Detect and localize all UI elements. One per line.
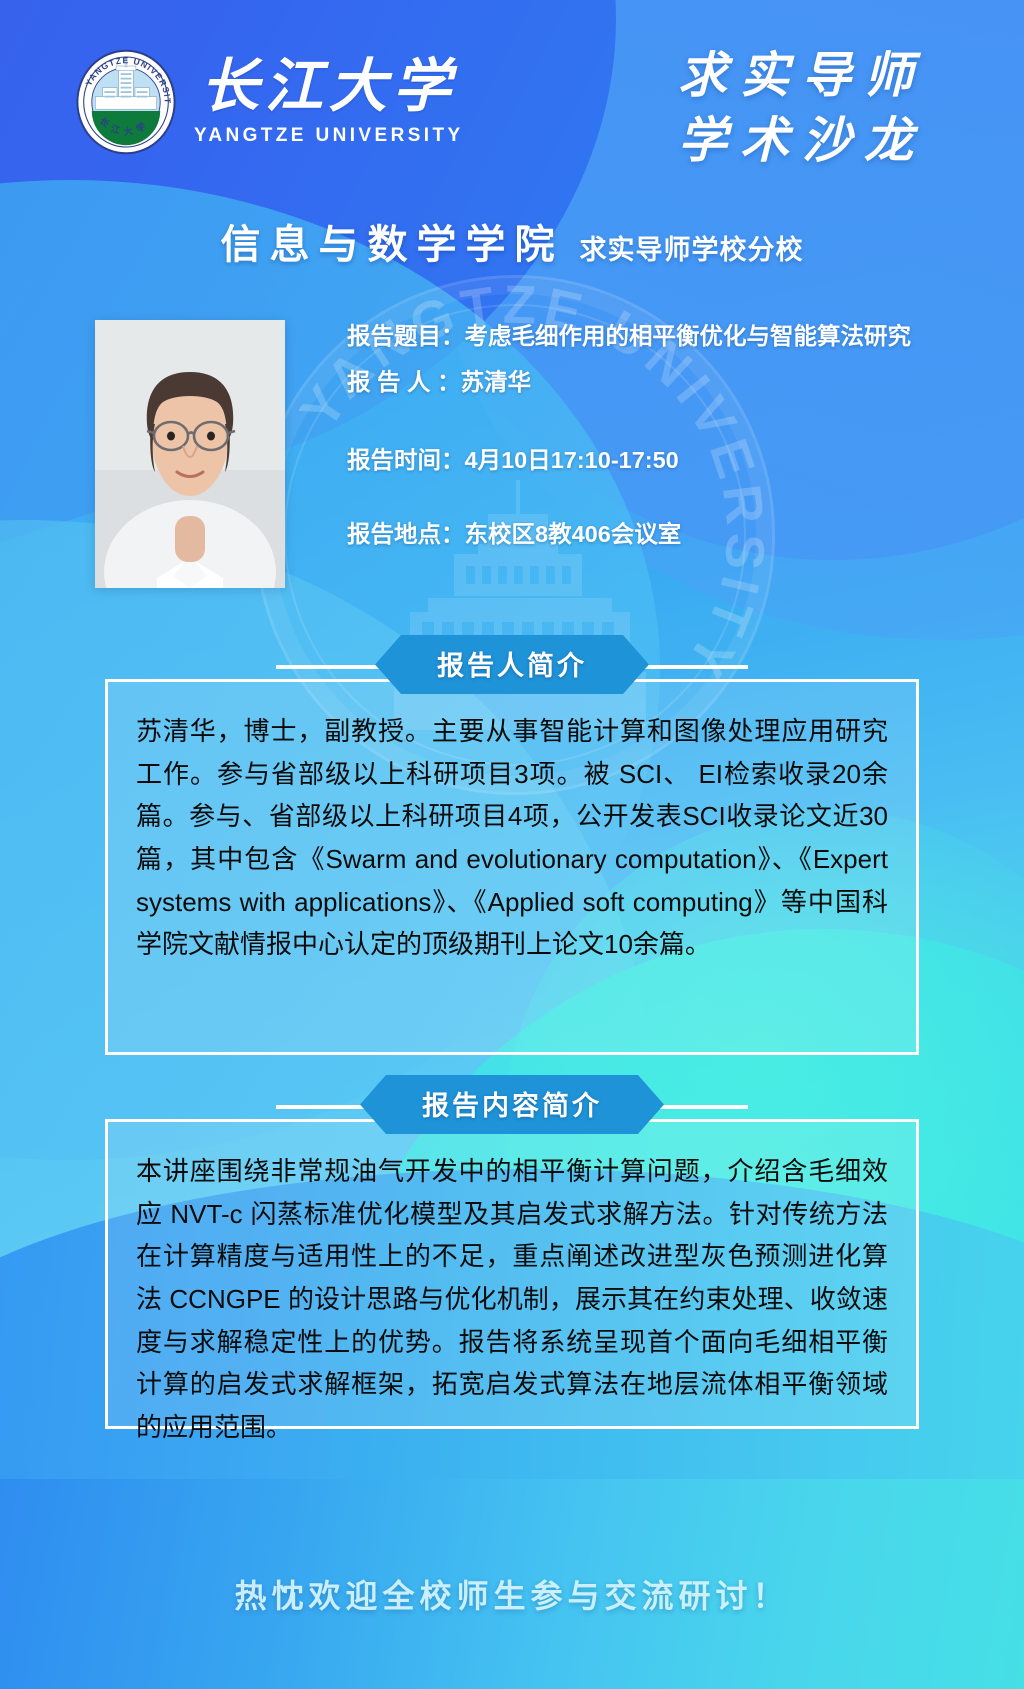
department-name: 信息与数学学院 (221, 212, 564, 270)
report-title-label: 报告题目： (347, 323, 465, 349)
content-text: 本讲座围绕非常规油气开发中的相平衡计算问题，介绍含毛细效应 NVT-c 闪蒸标准… (136, 1150, 888, 1448)
university-logo: YANGTZE UNIVERSITY 长江大学 长江大学 YANGTZE UNI… (72, 48, 464, 156)
poster-root: YANGTZE UNIVERSITY (0, 0, 1024, 1689)
report-place-row: 报告地点： 东校区8教406会议室 (347, 515, 917, 549)
footer-note: 热忱欢迎全校师生参与交流研讨！ (0, 1571, 1024, 1617)
university-seal-icon: YANGTZE UNIVERSITY 长江大学 (72, 48, 180, 156)
speaker-portrait-icon (95, 320, 285, 588)
report-time-value: 4月10日17:10-17:50 (465, 441, 679, 475)
speaker-photo (95, 320, 285, 588)
department-suffix: 求实导师学校分校 (580, 228, 804, 270)
report-time-row: 报告时间： 4月10日17:10-17:50 (347, 441, 917, 475)
university-name-en: YANGTZE UNIVERSITY (194, 125, 464, 147)
speaker-info: 报告题目：考虑毛细作用的相平衡优化与智能算法研究 报 告 人 ： 苏清华 报告时… (347, 320, 917, 553)
report-title-value: 考虑毛细作用的相平衡优化与智能算法研究 (465, 323, 912, 349)
report-time-label: 报告时间： (347, 441, 465, 475)
report-title-row: 报告题目：考虑毛细作用的相平衡优化与智能算法研究 (347, 320, 917, 353)
bio-text: 苏清华，博士，副教授。主要从事智能计算和图像处理应用研究工作。参与省部级以上科研… (136, 710, 888, 966)
report-place-value: 东校区8教406会议室 (465, 515, 682, 549)
report-place-label: 报告地点： (347, 515, 465, 549)
salon-title: 求实导师 学术沙龙 (678, 44, 926, 173)
university-name-cn: 长江大学 (201, 58, 457, 116)
department-line: 信息与数学学院 求实导师学校分校 (0, 212, 1024, 270)
content-box: 本讲座围绕非常规油气开发中的相平衡计算问题，介绍含毛细效应 NVT-c 闪蒸标准… (105, 1119, 919, 1429)
report-person-row: 报 告 人 ： 苏清华 (347, 363, 917, 397)
report-person-value: 苏清华 (461, 363, 532, 397)
salon-title-line2: 学术沙龙 (678, 109, 926, 174)
poster-header: YANGTZE UNIVERSITY 长江大学 长江大学 YANGTZE UNI… (0, 0, 1024, 200)
report-person-label: 报 告 人 ： (347, 363, 461, 397)
bio-box: 苏清华，博士，副教授。主要从事智能计算和图像处理应用研究工作。参与省部级以上科研… (105, 679, 919, 1055)
salon-title-line1: 求实导师 (678, 44, 926, 109)
